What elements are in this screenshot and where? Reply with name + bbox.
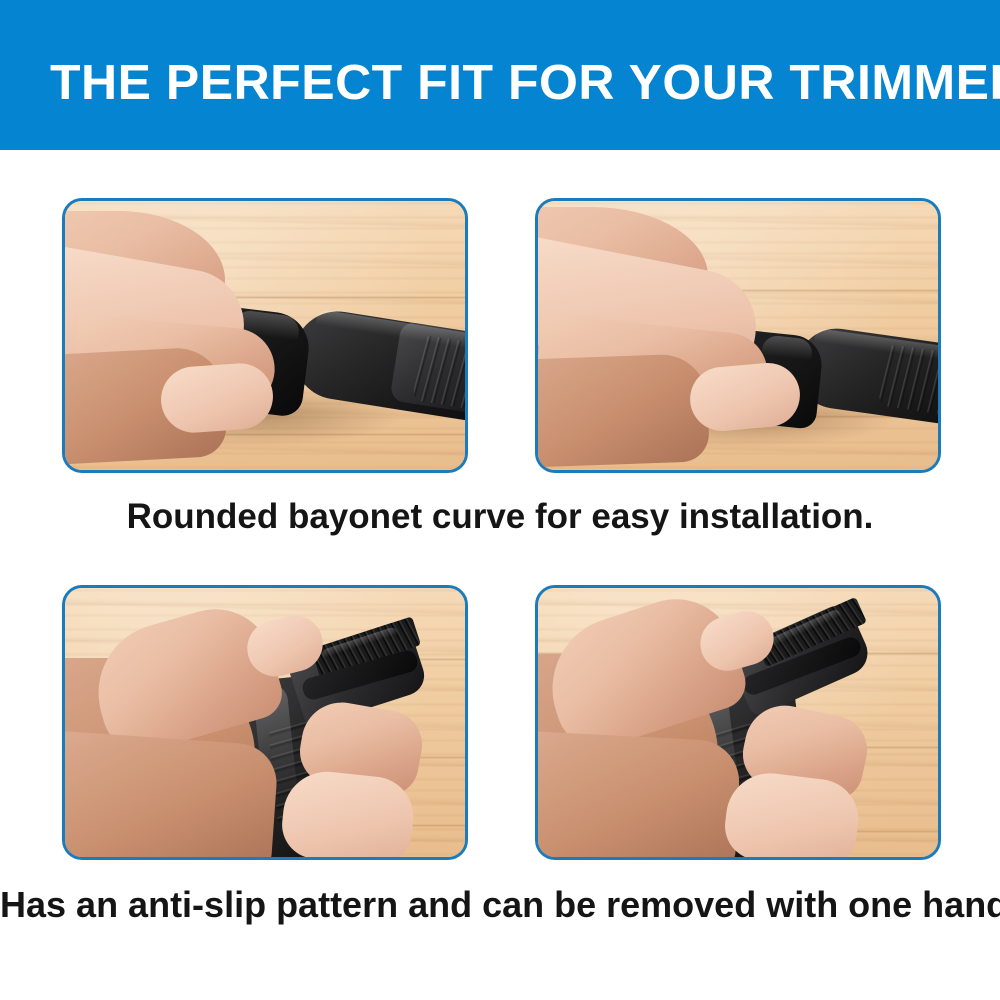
feature-row-2: Has an anti-slip pattern and can be remo…: [0, 537, 1000, 937]
photo-panel-2: [535, 198, 941, 473]
photo-panel-4: [535, 585, 941, 860]
feature-grid: Rounded bayonet curve for easy installat…: [0, 150, 1000, 1000]
finger-tip: [159, 361, 275, 435]
photo-panel-3: [62, 585, 468, 860]
product-photo-2: [538, 201, 938, 470]
page-title: THE PERFECT FIT FOR YOUR TRIMMER: [50, 58, 978, 108]
feature-caption-1: Rounded bayonet curve for easy installat…: [0, 497, 1000, 537]
feature-caption-2: Has an anti-slip pattern and can be remo…: [0, 885, 1000, 925]
palm-lower: [65, 730, 279, 857]
lower-fingers: [538, 353, 710, 469]
palm-lower: [538, 730, 741, 857]
product-photo-4: [538, 588, 938, 857]
feature-row-1: Rounded bayonet curve for easy installat…: [0, 150, 1000, 545]
product-photo-3: [65, 588, 465, 857]
product-photo-1: [65, 201, 465, 470]
header-banner: THE PERFECT FIT FOR YOUR TRIMMER: [0, 0, 1000, 150]
photo-panel-1: [62, 198, 468, 473]
